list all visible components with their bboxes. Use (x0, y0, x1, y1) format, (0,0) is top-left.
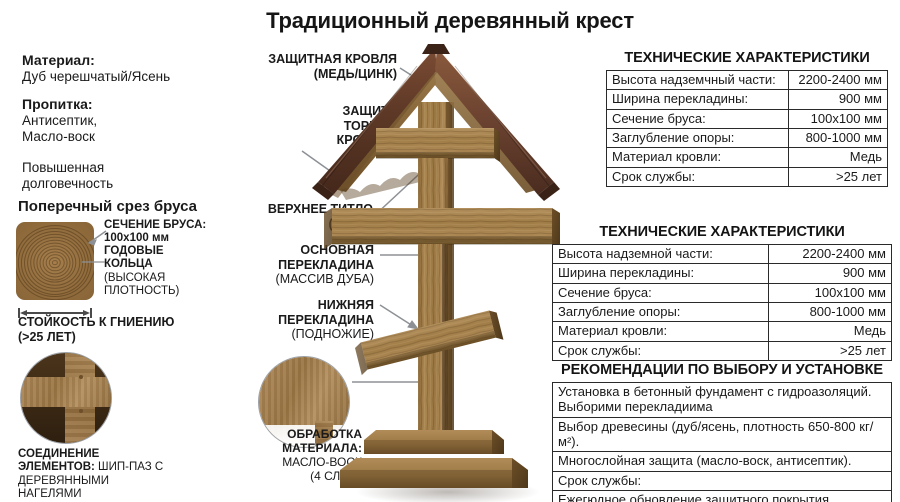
spec-durability: Повышенная долговечность (22, 160, 113, 192)
tech-spec-table-top: Высота надземчный части:2200-2400 ммШири… (606, 70, 888, 187)
table-cell-value: >25 лет (789, 167, 888, 186)
recommendation-text: Выбор древесины (дуб/ясень, плотность 65… (553, 417, 892, 452)
table-cell-value: 800-1000 мм (768, 302, 891, 321)
table-row: Сечение бруса:100x100 мм (553, 283, 892, 302)
tech-spec-table-mid-heading: ТЕХНИЧЕСКИЕ ХАРАКТЕРИСТИКИ (552, 224, 892, 240)
rot-resistance-label: СТОЙКОСТЬ К ГНИЕНИЮ (>25 ЛЕТ) (18, 315, 174, 344)
tech-spec-table-mid: Высота надземной части:2200-2400 ммШирин… (552, 244, 892, 361)
callout-beam-section: СЕЧЕНИЕ БРУСА: 100x100 мм (104, 219, 206, 246)
table-cell-value: 100x100 мм (789, 109, 888, 128)
callout-annual-rings-line2: КОЛЬЦА (104, 258, 179, 271)
spec-durability-value: Повышенная долговечность (22, 160, 113, 192)
table-cell-value: 2200-2400 мм (768, 245, 891, 264)
table-cell-value: 800-1000 мм (789, 128, 888, 147)
dimension-bar (24, 312, 86, 314)
table-cell-label: Заглубление опоры: (607, 128, 789, 147)
table-cell-label: Срок службы: (553, 341, 769, 360)
roof-ridge-cap (422, 44, 450, 54)
table-cell-value: Медь (789, 148, 888, 167)
table-cell-label: Срок службы: (607, 167, 789, 186)
recommendation-text: Многослойная защита (масло-воск, антисеп… (553, 452, 892, 471)
table-row: Сечение бруса:100x100 мм (607, 109, 888, 128)
table-row: Установка в бетонный фундамент с гидроаз… (553, 383, 892, 418)
table-cell-value: 900 мм (768, 264, 891, 283)
table-cell-label: Сечение бруса: (607, 109, 789, 128)
table-row: Срок службы:>25 лет (607, 167, 888, 186)
table-cell-label: Материал кровли: (553, 322, 769, 341)
table-cell-label: Ширина перекладины: (553, 264, 769, 283)
table-row: Ежегюдное обновление защитного покрытия. (553, 490, 892, 502)
table-cell-value: 100x100 мм (768, 283, 891, 302)
tech-spec-table-top-wrap: ТЕХНИЧЕСКИЕ ХАРАКТЕРИСТИКИ Высота надзем… (606, 50, 888, 187)
callout-beam-section-line1: СЕЧЕНИЕ БРУСА: (104, 219, 206, 232)
rot-resistance-line1: СТОЙКОСТЬ К ГНИЕНИЮ (18, 315, 174, 330)
callout-beam-section-line2: 100x100 мм (104, 232, 206, 245)
table-cell-label: Ширина перекладины: (607, 90, 789, 109)
spec-material-value: Дуб черешчатый/Ясень (22, 69, 170, 85)
table-row: Срок службы: (553, 471, 892, 490)
cross-vertical-post-front (418, 158, 448, 454)
table-cell-label: Высота надземчный части: (607, 71, 789, 90)
table-row: Многослойная защита (масло-воск, антисеп… (553, 452, 892, 471)
spec-material-heading: Материал: (22, 52, 170, 69)
table-cell-value: 2200-2400 мм (789, 71, 888, 90)
callout-annual-rings-line1: ГОДОВЫЕ (104, 245, 179, 258)
spec-impregnation: Пропитка: Антисептик, Масло-воск (22, 96, 97, 145)
table-row: Срок службы:>25 лет (553, 341, 892, 360)
table-cell-label: Материал кровли: (607, 148, 789, 167)
cross-upper-titlo-bar (376, 128, 500, 162)
joint-detail-circle (20, 352, 112, 444)
table-row: Заглубление опоры:800-1000 мм (553, 302, 892, 321)
table-row: Выбор древесины (дуб/ясень, плотность 65… (553, 417, 892, 452)
table-row: Высота надземной части:2200-2400 мм (553, 245, 892, 264)
callout-annual-rings-line4: ПЛОТНОСТЬ) (104, 285, 179, 298)
callout-annual-rings-line3: (ВЫСОКАЯ (104, 272, 179, 285)
cross-base-pedestal (340, 430, 528, 488)
recommendations-table: Установка в бетонный фундамент с гидроаз… (552, 382, 892, 502)
table-row: Материал кровли:Медь (553, 322, 892, 341)
rot-resistance-line2: (>25 ЛЕТ) (18, 330, 174, 345)
wooden-dowel-peg-icon (79, 409, 83, 413)
table-cell-value: 900 мм (789, 90, 888, 109)
tech-spec-table-top-heading: ТЕХНИЧЕСКИЕ ХАРАКТЕРИСТИКИ (606, 50, 888, 66)
recommendation-text: Срок службы: (553, 471, 892, 490)
spec-impregnation-value: Антисептик, Масло-воск (22, 113, 97, 145)
infographic-page: Традиционный деревянный крест Материал: … (0, 0, 900, 502)
table-cell-label: Заглубление опоры: (553, 302, 769, 321)
callout-annual-rings: ГОДОВЫЕ КОЛЬЦА (ВЫСОКАЯ ПЛОТНОСТЬ) (104, 245, 179, 298)
cross-section-title: Поперечный срез бруса (18, 198, 197, 215)
cross-main-crossbar (324, 208, 560, 249)
recommendation-text: Установка в бетонный фундамент с гидроаз… (553, 383, 892, 418)
tech-spec-table-mid-wrap: ТЕХНИЧЕСКИЕ ХАРАКТЕРИСТИКИ Высота надзем… (552, 224, 892, 361)
table-row: Высота надземчный части:2200-2400 мм (607, 71, 888, 90)
table-row: Заглубление опоры:800-1000 мм (607, 128, 888, 147)
wooden-dowel-peg-icon (79, 375, 83, 379)
leader-annual-rings (80, 258, 106, 266)
table-cell-value: Медь (768, 322, 891, 341)
table-cell-label: Высота надземной части: (553, 245, 769, 264)
table-cell-label: Сечение бруса: (553, 283, 769, 302)
recommendations-table-wrap: РЕКОМЕНДАЦИИ ПО ВЫБОРУ И УСТАНОВКЕ Устан… (552, 362, 892, 502)
table-cell-value: >25 лет (768, 341, 891, 360)
table-row: Материал кровли:Медь (607, 148, 888, 167)
page-title: Традиционный деревянный крест (0, 8, 900, 34)
recommendations-table-heading: РЕКОМЕНДАЦИИ ПО ВЫБОРУ И УСТАНОВКЕ (552, 362, 892, 378)
joint-detail-label: СОЕДИНЕНИЕ ЭЛЕМЕНТОВ: ШИП-ПАЗ С ДЕРЕВЯНН… (18, 448, 248, 501)
recommendation-text: Ежегюдное обновление защитного покрытия. (553, 490, 892, 502)
spec-material: Материал: Дуб черешчатый/Ясень (22, 52, 170, 85)
table-row: Ширина перекладины:900 мм (607, 90, 888, 109)
joint-detail-label-bold: СОЕДИНЕНИЕ ЭЛЕМЕНТОВ: (18, 448, 99, 473)
joint-horizontal-beam (20, 377, 112, 407)
table-row: Ширина перекладины:900 мм (553, 264, 892, 283)
spec-impregnation-heading: Пропитка: (22, 96, 97, 113)
